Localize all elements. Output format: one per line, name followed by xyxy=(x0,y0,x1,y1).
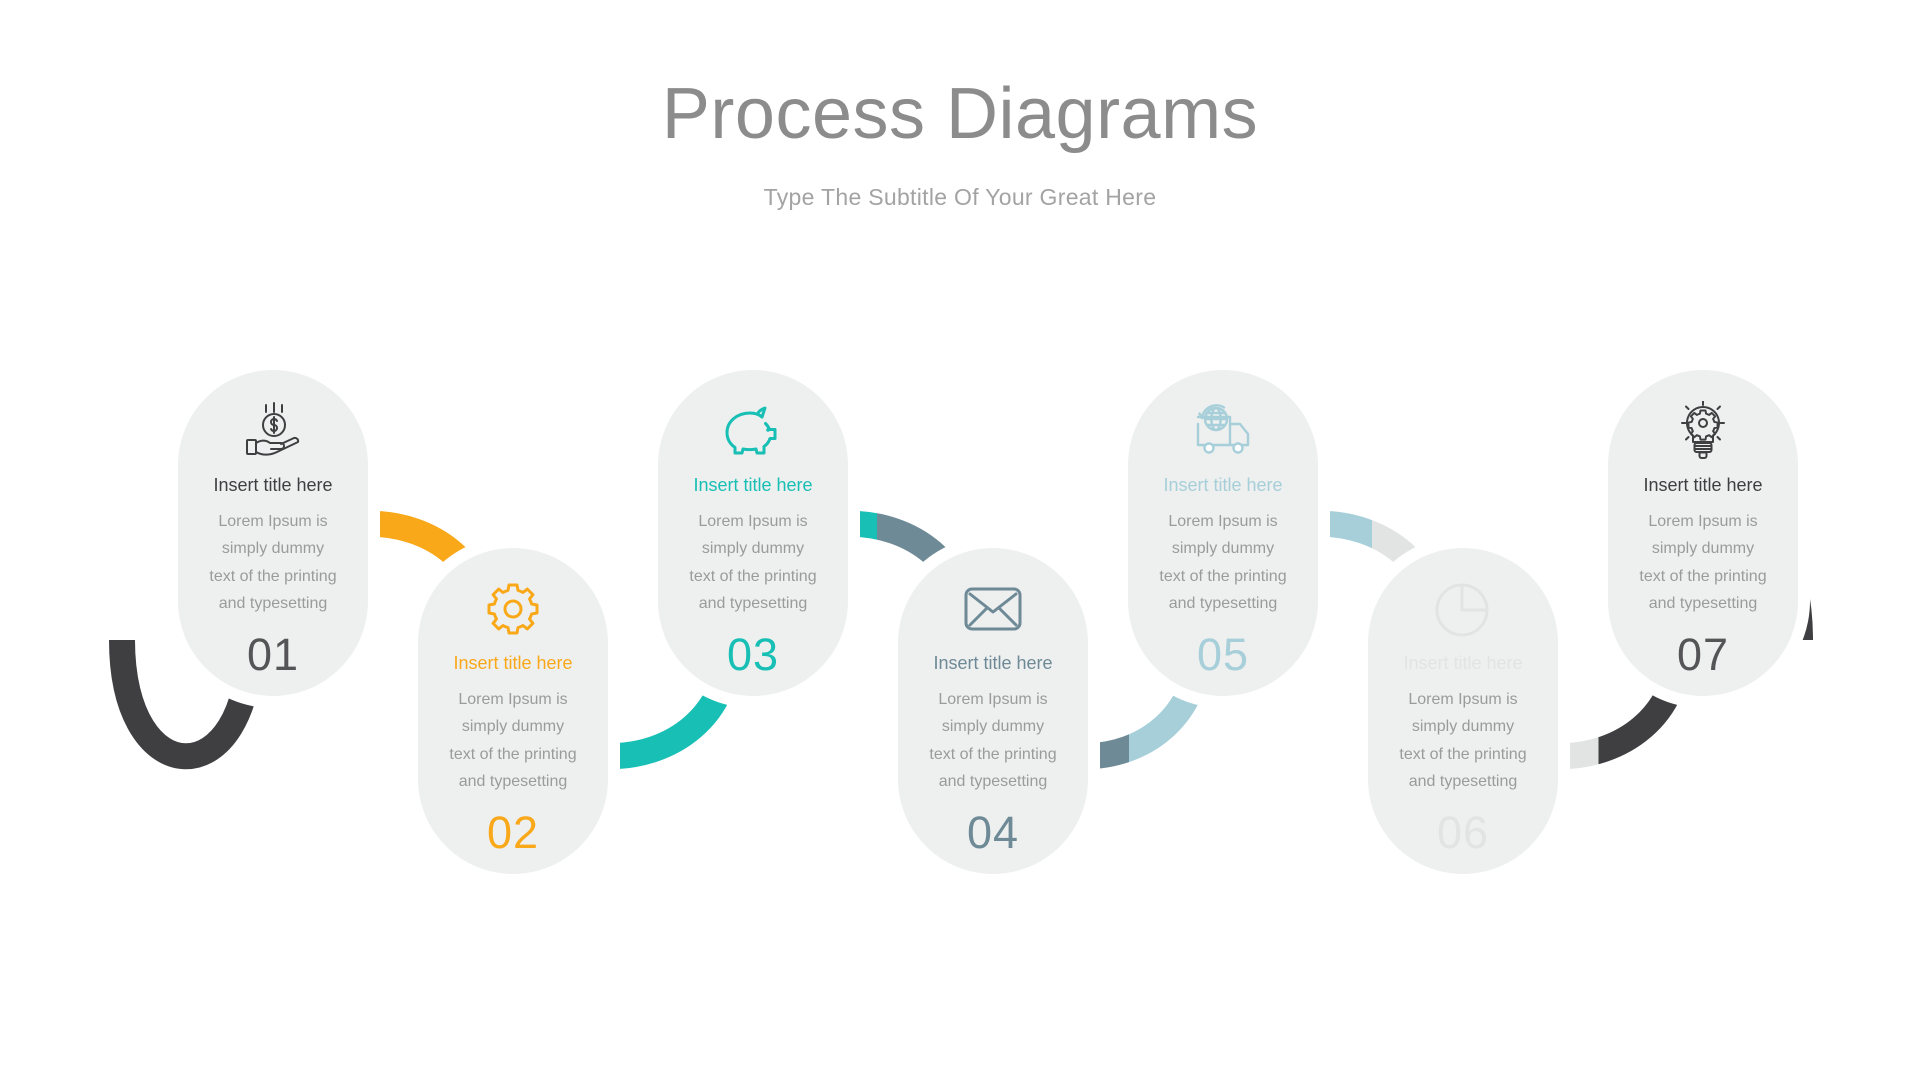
card-body-line: simply dummy xyxy=(1382,713,1544,741)
card-title: Insert title here xyxy=(432,654,594,674)
card-body-line: Lorem Ipsum is xyxy=(1142,508,1304,536)
card-body: Lorem Ipsum is simply dummy text of the … xyxy=(1622,508,1784,618)
card-title: Insert title here xyxy=(1622,476,1784,496)
card-title: Insert title here xyxy=(1142,476,1304,496)
delivery-truck-globe-icon xyxy=(1142,400,1304,462)
card-number: 02 xyxy=(432,810,594,855)
card-title: Insert title here xyxy=(672,476,834,496)
process-step-card-01[interactable]: Insert title here Lorem Ipsum is simply … xyxy=(178,370,368,696)
card-body-line: simply dummy xyxy=(1622,535,1784,563)
process-step-card-02[interactable]: Insert title here Lorem Ipsum is simply … xyxy=(418,548,608,874)
process-step-card-05[interactable]: Insert title here Lorem Ipsum is simply … xyxy=(1128,370,1318,696)
card-body-line: Lorem Ipsum is xyxy=(1622,508,1784,536)
card-body-line: Lorem Ipsum is xyxy=(432,686,594,714)
pie-chart-icon xyxy=(1382,578,1544,640)
page-title: Process Diagrams xyxy=(0,78,1920,150)
slide-canvas: Process Diagrams Type The Subtitle Of Yo… xyxy=(0,0,1920,1080)
card-body: Lorem Ipsum is simply dummy text of the … xyxy=(912,686,1074,796)
card-body-line: and typesetting xyxy=(1622,590,1784,618)
process-step-card-06[interactable]: Insert title here Lorem Ipsum is simply … xyxy=(1368,548,1558,874)
card-number: 05 xyxy=(1142,632,1304,677)
card-title: Insert title here xyxy=(912,654,1074,674)
card-body: Lorem Ipsum is simply dummy text of the … xyxy=(1382,686,1544,796)
card-body-line: simply dummy xyxy=(672,535,834,563)
card-body-line: simply dummy xyxy=(1142,535,1304,563)
card-number: 07 xyxy=(1622,632,1784,677)
page-subtitle: Type The Subtitle Of Your Great Here xyxy=(0,184,1920,211)
envelope-icon xyxy=(912,578,1074,640)
process-step-card-07[interactable]: Insert title here Lorem Ipsum is simply … xyxy=(1608,370,1798,696)
card-body-line: text of the printing xyxy=(912,741,1074,769)
card-body-line: simply dummy xyxy=(432,713,594,741)
card-number: 01 xyxy=(192,632,354,677)
piggy-bank-icon xyxy=(672,400,834,462)
card-body: Lorem Ipsum is simply dummy text of the … xyxy=(192,508,354,618)
card-body: Lorem Ipsum is simply dummy text of the … xyxy=(672,508,834,618)
process-step-card-04[interactable]: Insert title here Lorem Ipsum is simply … xyxy=(898,548,1088,874)
card-body-line: Lorem Ipsum is xyxy=(672,508,834,536)
gear-icon xyxy=(432,578,594,640)
lightbulb-gear-icon xyxy=(1622,400,1784,462)
card-body-line: text of the printing xyxy=(192,563,354,591)
card-body-line: Lorem Ipsum is xyxy=(912,686,1074,714)
card-body-line: text of the printing xyxy=(432,741,594,769)
card-body: Lorem Ipsum is simply dummy text of the … xyxy=(432,686,594,796)
card-body: Lorem Ipsum is simply dummy text of the … xyxy=(1142,508,1304,618)
card-body-line: Lorem Ipsum is xyxy=(192,508,354,536)
header: Process Diagrams Type The Subtitle Of Yo… xyxy=(0,0,1920,211)
card-body-line: text of the printing xyxy=(1382,741,1544,769)
card-body-line: text of the printing xyxy=(672,563,834,591)
card-body-line: and typesetting xyxy=(672,590,834,618)
card-body-line: and typesetting xyxy=(912,768,1074,796)
card-number: 04 xyxy=(912,810,1074,855)
card-body-line: and typesetting xyxy=(1142,590,1304,618)
card-number: 06 xyxy=(1382,810,1544,855)
card-title: Insert title here xyxy=(192,476,354,496)
card-body-line: simply dummy xyxy=(912,713,1074,741)
card-body-line: and typesetting xyxy=(1382,768,1544,796)
process-step-card-03[interactable]: Insert title here Lorem Ipsum is simply … xyxy=(658,370,848,696)
card-body-line: simply dummy xyxy=(192,535,354,563)
card-body-line: text of the printing xyxy=(1622,563,1784,591)
card-body-line: and typesetting xyxy=(432,768,594,796)
card-body-line: Lorem Ipsum is xyxy=(1382,686,1544,714)
hand-holding-coin-icon xyxy=(192,400,354,462)
card-body-line: and typesetting xyxy=(192,590,354,618)
card-number: 03 xyxy=(672,632,834,677)
card-body-line: text of the printing xyxy=(1142,563,1304,591)
card-title: Insert title here xyxy=(1382,654,1544,674)
